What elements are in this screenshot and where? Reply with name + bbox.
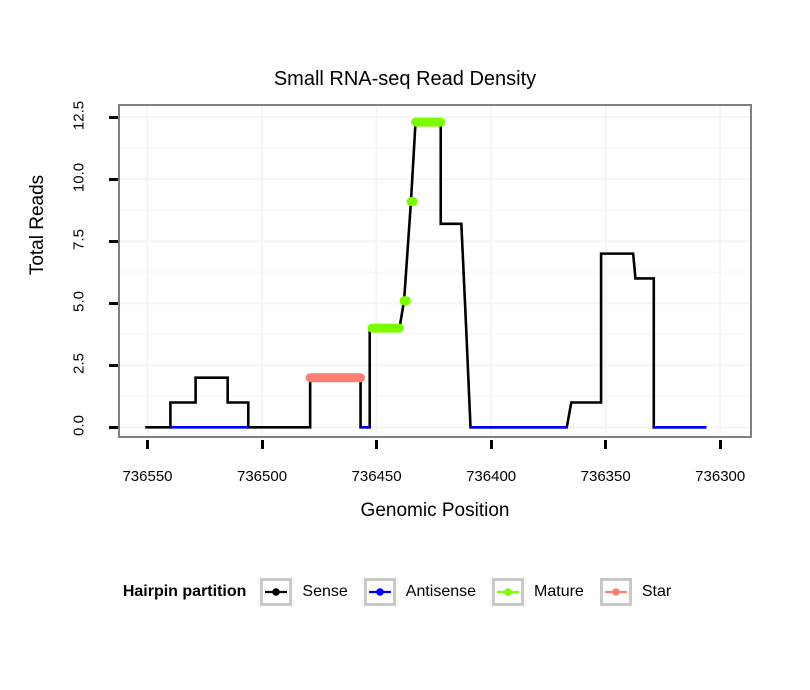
x-tick-mark bbox=[719, 440, 722, 449]
x-tick-label: 736400 bbox=[446, 468, 536, 485]
grid-lines bbox=[120, 106, 750, 436]
y-axis-title: Total Reads bbox=[27, 145, 49, 305]
y-tick-label-wrap: 0.0 bbox=[56, 417, 102, 437]
line-point-icon bbox=[492, 578, 524, 606]
legend-item-star[interactable]: Star bbox=[600, 578, 687, 606]
x-tick-label: 736450 bbox=[332, 468, 422, 485]
y-tick-label: 2.5 bbox=[71, 341, 88, 387]
chart-title: Small RNA-seq Read Density bbox=[0, 68, 810, 91]
y-tick-label: 12.5 bbox=[71, 93, 88, 139]
legend-title: Hairpin partition bbox=[123, 583, 247, 601]
legend-item-mature[interactable]: Mature bbox=[492, 578, 600, 606]
line-point-icon bbox=[600, 578, 632, 606]
x-tick-label: 736550 bbox=[102, 468, 192, 485]
legend-items: SenseAntisenseMatureStar bbox=[260, 578, 687, 606]
x-tick-label: 736350 bbox=[561, 468, 651, 485]
y-tick-mark bbox=[109, 178, 118, 181]
legend-item-antisense[interactable]: Antisense bbox=[364, 578, 492, 606]
x-tick-label: 736500 bbox=[217, 468, 307, 485]
y-tick-label: 7.5 bbox=[71, 217, 88, 263]
legend-label: Antisense bbox=[406, 583, 476, 601]
y-tick-label-wrap: 10.0 bbox=[56, 169, 102, 189]
x-tick-mark bbox=[375, 440, 378, 449]
y-tick-mark bbox=[109, 302, 118, 305]
y-tick-label-wrap: 2.5 bbox=[56, 355, 102, 375]
legend-label: Sense bbox=[302, 583, 347, 601]
y-tick-label: 5.0 bbox=[71, 279, 88, 325]
plot-panel bbox=[118, 104, 752, 438]
x-tick-label: 736300 bbox=[675, 468, 765, 485]
legend-label: Mature bbox=[534, 583, 584, 601]
annotation-segments bbox=[310, 122, 441, 378]
x-tick-mark bbox=[146, 440, 149, 449]
x-tick-mark bbox=[490, 440, 493, 449]
y-tick-mark bbox=[109, 240, 118, 243]
y-tick-label: 0.0 bbox=[71, 403, 88, 449]
line-point-icon bbox=[260, 578, 292, 606]
x-tick-mark bbox=[261, 440, 264, 449]
series-lines bbox=[145, 122, 706, 427]
plot-area bbox=[120, 106, 750, 436]
legend-item-sense[interactable]: Sense bbox=[260, 578, 363, 606]
chart-figure: Small RNA-seq Read Density Total Reads G… bbox=[0, 0, 810, 690]
y-tick-label-wrap: 12.5 bbox=[56, 107, 102, 127]
legend-label: Star bbox=[642, 583, 671, 601]
y-tick-label-wrap: 5.0 bbox=[56, 293, 102, 313]
y-tick-label: 10.0 bbox=[71, 155, 88, 201]
y-tick-label-wrap: 7.5 bbox=[56, 231, 102, 251]
x-axis-title: Genomic Position bbox=[118, 500, 752, 522]
legend: Hairpin partition SenseAntisenseMatureSt… bbox=[0, 578, 810, 606]
y-tick-mark bbox=[109, 426, 118, 429]
y-tick-mark bbox=[109, 116, 118, 119]
y-tick-mark bbox=[109, 364, 118, 367]
x-tick-mark bbox=[604, 440, 607, 449]
line-point-icon bbox=[364, 578, 396, 606]
